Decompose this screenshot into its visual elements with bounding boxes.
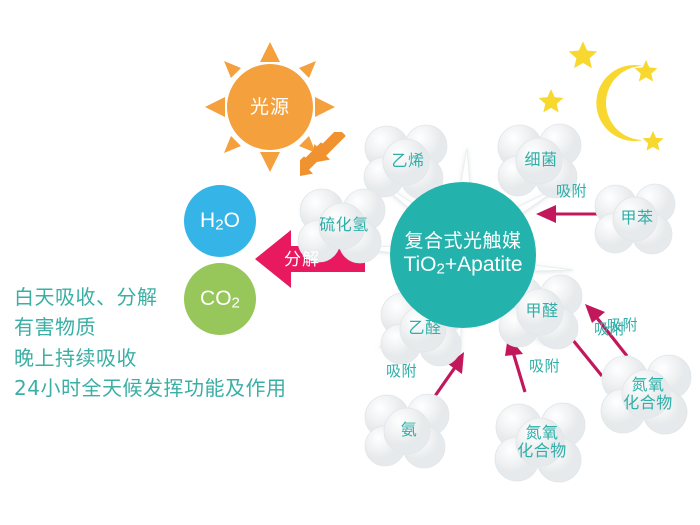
description-line-2: 有害物质 — [14, 312, 286, 342]
core-title-formula: TiO2+Apatite — [403, 252, 522, 279]
cloud-icon — [592, 180, 682, 256]
adsorption-label-acetaldehyde: 吸附 — [386, 360, 417, 381]
pollutant-cloud-toluene: 甲苯 — [592, 180, 682, 256]
sun-disc: 光源 — [227, 64, 313, 150]
adsorption-label-nitrogen-oxides-right: 吸附 — [607, 314, 638, 335]
decompose-label: 分解 — [284, 245, 320, 270]
infographic-canvas: 光源 — [0, 0, 700, 525]
adsorption-label-nitrogen-oxides-center: 吸附 — [529, 355, 560, 376]
h2o-circle: H2O — [184, 185, 256, 257]
adsorption-label-toluene: 吸附 — [556, 180, 587, 201]
cloud-icon — [362, 390, 456, 470]
core-photocatalyst-circle: 复合式光触媒 TiO2+Apatite — [390, 182, 536, 328]
star-icon — [634, 59, 658, 87]
description-line-4: 24小时全天候发挥功能及作用 — [14, 373, 286, 403]
cloud-icon — [492, 398, 592, 486]
pollutant-cloud-nitrogen-oxides-center: 氮氧化合物 — [492, 398, 592, 486]
description-line-3: 晚上持续吸收 — [14, 343, 286, 373]
pollutant-cloud-nitrogen-oxides-right: 氮氧化合物 — [598, 350, 698, 438]
cloud-icon — [598, 350, 698, 438]
description-line-1: 白天吸收、分解 — [14, 282, 286, 312]
sun-label: 光源 — [250, 98, 290, 117]
description-text-block: 白天吸收、分解 有害物质 晚上持续吸收 24小时全天候发挥功能及作用 — [14, 282, 286, 404]
star-icon — [538, 88, 564, 118]
star-icon — [642, 130, 664, 156]
core-title-cn: 复合式光触媒 — [404, 231, 521, 253]
star-icon — [568, 40, 598, 74]
pollutant-cloud-ammonia: 氨 — [362, 390, 456, 470]
h2o-label: H2O — [200, 209, 240, 234]
